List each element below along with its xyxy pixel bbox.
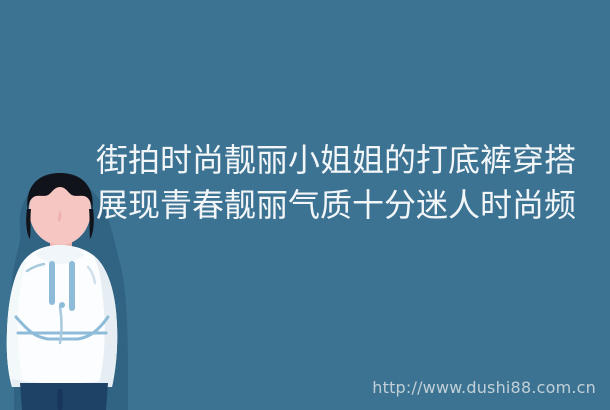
title-line-2: 展现青春靓丽气质十分迷人时尚频: [96, 183, 596, 228]
poster-canvas: 街拍时尚靓丽小姐姐的打底裤穿搭 展现青春靓丽气质十分迷人时尚频 http://w…: [0, 0, 610, 410]
poster-title: 街拍时尚靓丽小姐姐的打底裤穿搭 展现青春靓丽气质十分迷人时尚频: [96, 138, 596, 228]
pants: [20, 383, 108, 410]
watermark-url: http://www.dushi88.com.cn: [372, 378, 596, 398]
title-line-1: 街拍时尚靓丽小姐姐的打底裤穿搭: [96, 138, 596, 183]
